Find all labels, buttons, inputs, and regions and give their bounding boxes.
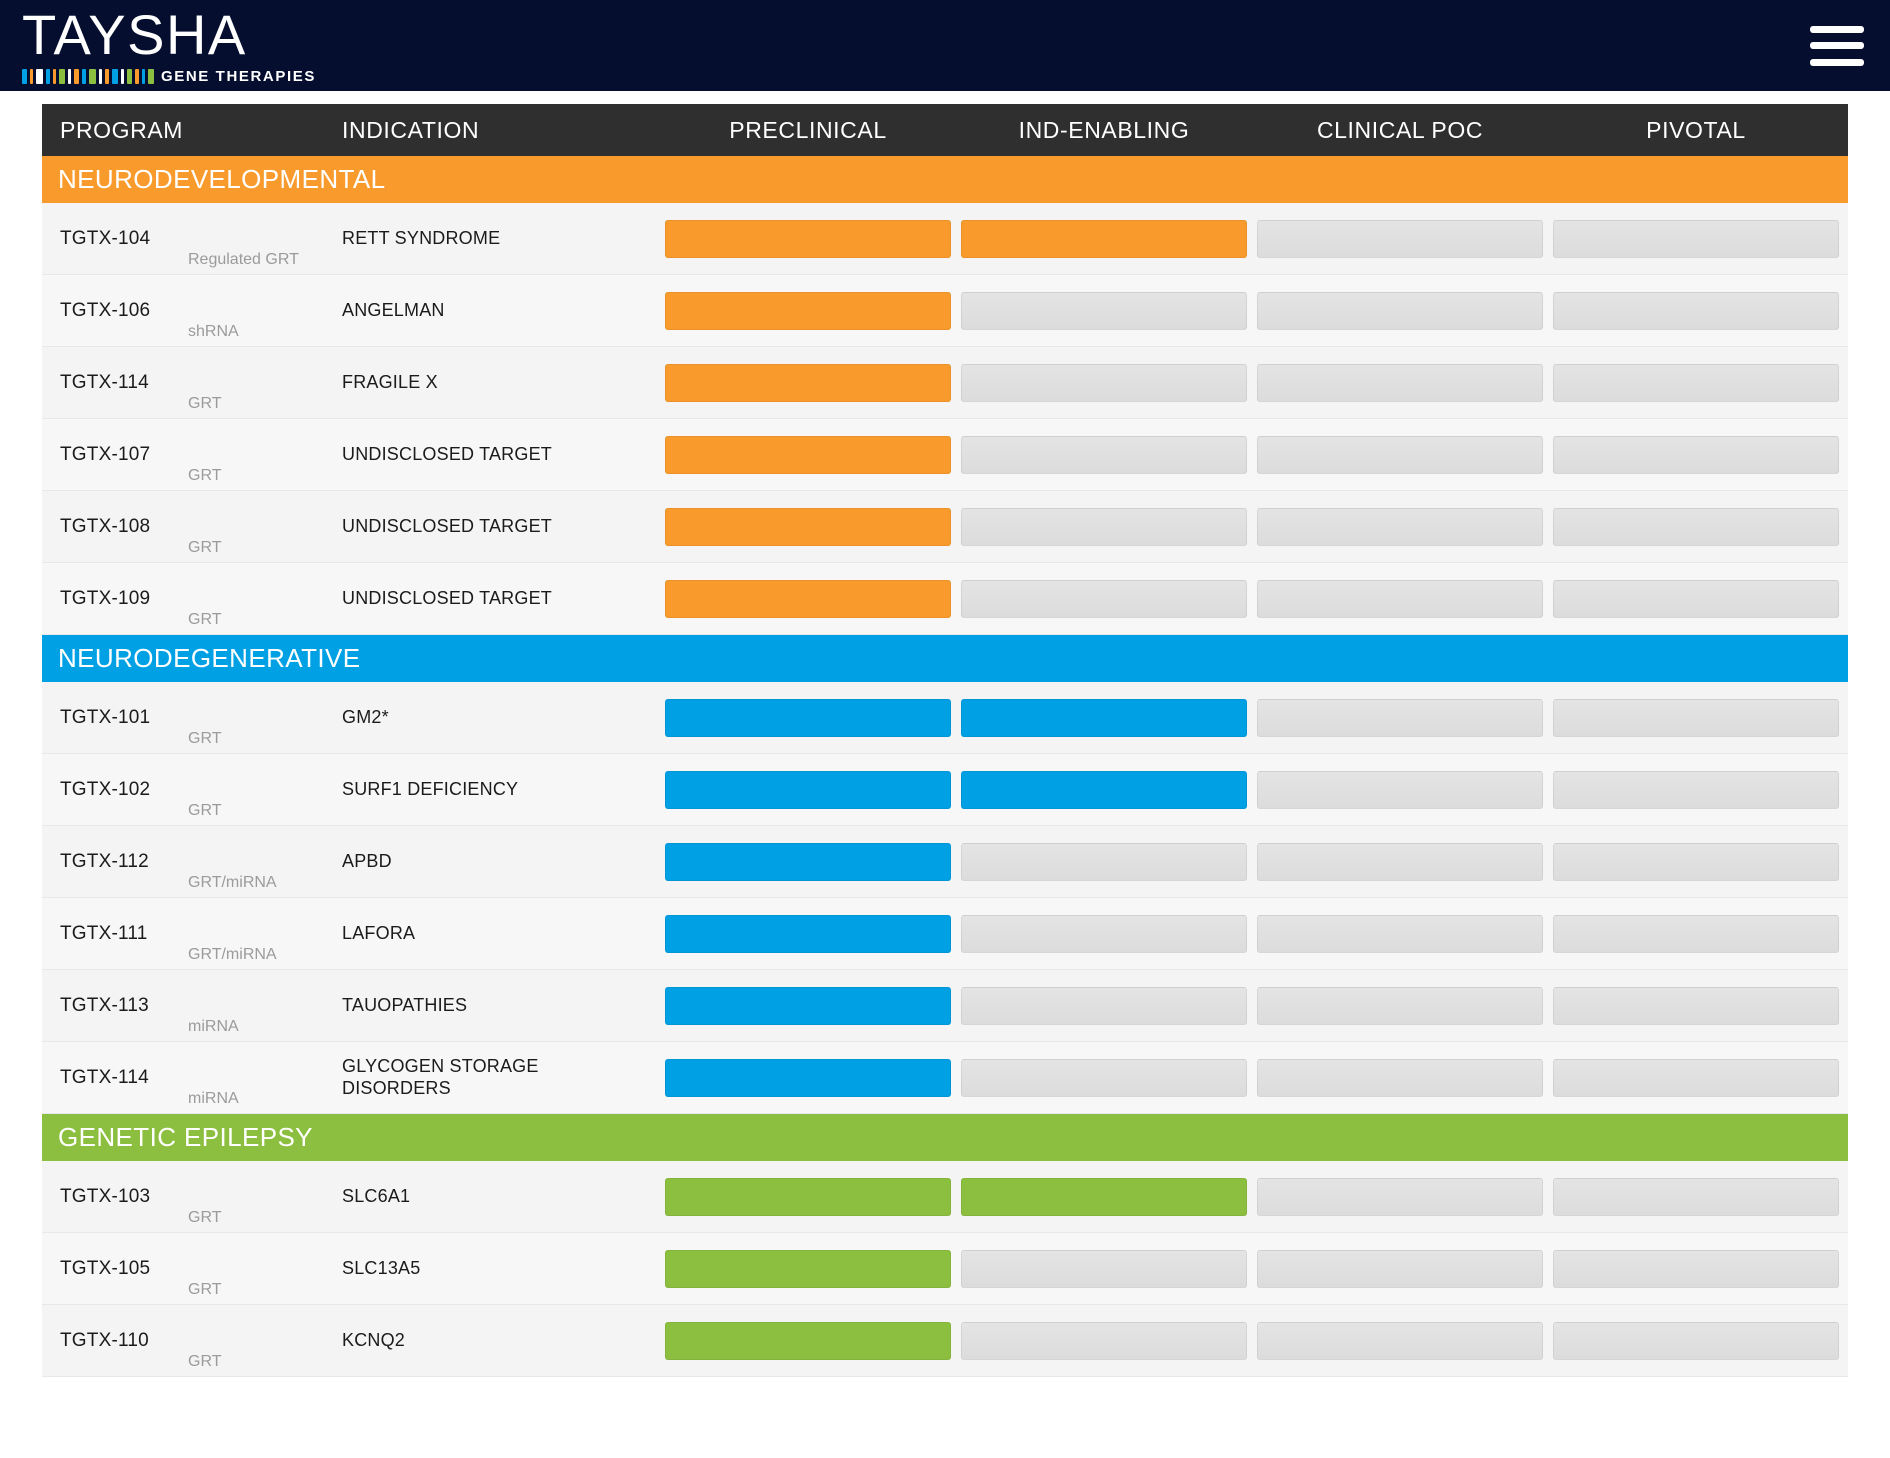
cell-stage-ind-enabling	[956, 1178, 1252, 1216]
cell-program: TGTX-105GRT	[42, 1258, 342, 1280]
cell-stage-clinical-poc	[1252, 1059, 1548, 1097]
program-id: TGTX-113	[60, 995, 188, 1017]
progress-bar-empty	[1553, 771, 1839, 809]
cell-stage-pivotal	[1548, 580, 1844, 618]
cell-stage-preclinical	[660, 436, 956, 474]
cell-stage-preclinical	[660, 580, 956, 618]
cell-stage-preclinical	[660, 1250, 956, 1288]
cell-program: TGTX-111GRT/miRNA	[42, 923, 342, 945]
barcode-bar	[112, 69, 118, 84]
barcode-bar	[30, 69, 33, 84]
table-row[interactable]: TGTX-104Regulated GRTRETT SYNDROME	[42, 203, 1848, 275]
table-row[interactable]: TGTX-107GRTUNDISCLOSED TARGET	[42, 419, 1848, 491]
cell-stage-pivotal	[1548, 843, 1844, 881]
progress-bar-empty	[1553, 987, 1839, 1025]
cell-program: TGTX-106shRNA	[42, 300, 342, 322]
program-modality: GRT	[188, 611, 221, 629]
cell-stage-clinical-poc	[1252, 436, 1548, 474]
cell-program: TGTX-107GRT	[42, 444, 342, 466]
progress-bar-empty	[1553, 1178, 1839, 1216]
barcode-bar	[46, 69, 50, 84]
table-row[interactable]: TGTX-110GRTKCNQ2	[42, 1305, 1848, 1377]
cell-indication: SURF1 DEFICIENCY	[342, 779, 660, 800]
barcode-logo-icon	[22, 69, 154, 84]
cell-stage-ind-enabling	[956, 771, 1252, 809]
program-modality: GRT	[188, 1281, 221, 1299]
progress-bar-filled	[665, 843, 951, 881]
progress-bar-empty	[961, 1059, 1247, 1097]
progress-bar-filled	[665, 220, 951, 258]
cell-stage-pivotal	[1548, 915, 1844, 953]
table-body: NEURODEVELOPMENTALTGTX-104Regulated GRTR…	[42, 156, 1848, 1377]
table-row[interactable]: TGTX-106shRNAANGELMAN	[42, 275, 1848, 347]
table-row[interactable]: TGTX-105GRTSLC13A5	[42, 1233, 1848, 1305]
cell-stage-pivotal	[1548, 508, 1844, 546]
progress-bar-empty	[961, 1250, 1247, 1288]
brand-tagline: GENE THERAPIES	[161, 69, 316, 84]
cell-stage-preclinical	[660, 292, 956, 330]
barcode-bar	[22, 69, 27, 84]
program-id: TGTX-101	[60, 707, 188, 729]
cell-stage-clinical-poc	[1252, 292, 1548, 330]
cell-stage-preclinical	[660, 508, 956, 546]
progress-bar-filled	[665, 1322, 951, 1360]
progress-bar-empty	[1553, 436, 1839, 474]
progress-bar-filled	[665, 580, 951, 618]
cell-indication: SLC6A1	[342, 1186, 660, 1207]
section-header-neurodevelopmental: NEURODEVELOPMENTAL	[42, 156, 1848, 203]
cell-program: TGTX-112GRT/miRNA	[42, 851, 342, 873]
progress-bar-empty	[1257, 699, 1543, 737]
program-modality: miRNA	[188, 1018, 239, 1036]
program-id: TGTX-111	[60, 923, 188, 945]
progress-bar-empty	[961, 292, 1247, 330]
cell-program: TGTX-110GRT	[42, 1330, 342, 1352]
cell-stage-clinical-poc	[1252, 580, 1548, 618]
table-row[interactable]: TGTX-108GRTUNDISCLOSED TARGET	[42, 491, 1848, 563]
cell-stage-ind-enabling	[956, 1322, 1252, 1360]
cell-stage-ind-enabling	[956, 1250, 1252, 1288]
progress-bar-filled	[665, 1178, 951, 1216]
cell-stage-pivotal	[1548, 1322, 1844, 1360]
cell-stage-ind-enabling	[956, 915, 1252, 953]
hamburger-bar-2	[1810, 42, 1864, 49]
cell-stage-clinical-poc	[1252, 220, 1548, 258]
cell-stage-pivotal	[1548, 1059, 1844, 1097]
cell-stage-ind-enabling	[956, 580, 1252, 618]
barcode-bar	[105, 69, 109, 84]
column-header-ind-enabling: IND-ENABLING	[956, 117, 1252, 144]
progress-bar-empty	[1257, 987, 1543, 1025]
program-modality: GRT	[188, 1209, 221, 1227]
barcode-bar	[36, 69, 43, 84]
program-id: TGTX-108	[60, 516, 188, 538]
program-modality: miRNA	[188, 1090, 239, 1108]
cell-stage-clinical-poc	[1252, 915, 1548, 953]
cell-stage-clinical-poc	[1252, 1322, 1548, 1360]
progress-bar-empty	[1553, 915, 1839, 953]
column-header-program: PROGRAM	[42, 117, 342, 144]
progress-bar-empty	[961, 987, 1247, 1025]
program-id: TGTX-106	[60, 300, 188, 322]
progress-bar-empty	[1553, 1322, 1839, 1360]
progress-bar-empty	[961, 364, 1247, 402]
progress-bar-filled	[665, 436, 951, 474]
progress-bar-filled	[665, 508, 951, 546]
program-modality: GRT/miRNA	[188, 946, 277, 964]
cell-stage-clinical-poc	[1252, 1250, 1548, 1288]
cell-stage-pivotal	[1548, 436, 1844, 474]
barcode-bar	[89, 69, 96, 84]
cell-program: TGTX-113miRNA	[42, 995, 342, 1017]
progress-bar-empty	[1257, 220, 1543, 258]
cell-indication: UNDISCLOSED TARGET	[342, 588, 660, 609]
cell-stage-clinical-poc	[1252, 987, 1548, 1025]
barcode-bar	[148, 69, 154, 84]
progress-bar-empty	[961, 436, 1247, 474]
cell-stage-preclinical	[660, 1322, 956, 1360]
cell-program: TGTX-114miRNA	[42, 1067, 342, 1089]
cell-stage-preclinical	[660, 843, 956, 881]
cell-stage-pivotal	[1548, 220, 1844, 258]
barcode-bar	[59, 69, 65, 84]
barcode-bar	[82, 69, 86, 84]
cell-stage-preclinical	[660, 915, 956, 953]
cell-stage-clinical-poc	[1252, 364, 1548, 402]
cell-indication: LAFORA	[342, 923, 660, 944]
hamburger-bar-1	[1810, 26, 1864, 33]
progress-bar-empty	[961, 508, 1247, 546]
column-header-preclinical: PRECLINICAL	[660, 117, 956, 144]
progress-bar-empty	[1553, 220, 1839, 258]
table-row[interactable]: TGTX-101GRTGM2*	[42, 682, 1848, 754]
cell-stage-clinical-poc	[1252, 508, 1548, 546]
progress-bar-filled	[665, 364, 951, 402]
cell-program: TGTX-104Regulated GRT	[42, 228, 342, 250]
section-header-genetic-epilepsy: GENETIC EPILEPSY	[42, 1114, 1848, 1161]
progress-bar-filled	[665, 987, 951, 1025]
program-id: TGTX-114	[60, 372, 188, 394]
cell-indication: UNDISCLOSED TARGET	[342, 516, 660, 537]
cell-stage-pivotal	[1548, 699, 1844, 737]
cell-stage-clinical-poc	[1252, 771, 1548, 809]
cell-indication: GLYCOGEN STORAGE DISORDERS	[342, 1056, 660, 1098]
cell-indication: KCNQ2	[342, 1330, 660, 1351]
program-id: TGTX-114	[60, 1067, 188, 1089]
cell-stage-ind-enabling	[956, 436, 1252, 474]
progress-bar-filled	[665, 1059, 951, 1097]
progress-bar-empty	[1257, 508, 1543, 546]
progress-bar-filled	[665, 1250, 951, 1288]
program-id: TGTX-109	[60, 588, 188, 610]
progress-bar-empty	[961, 843, 1247, 881]
progress-bar-empty	[1553, 699, 1839, 737]
cell-stage-clinical-poc	[1252, 843, 1548, 881]
cell-program: TGTX-103GRT	[42, 1186, 342, 1208]
cell-stage-preclinical	[660, 364, 956, 402]
cell-stage-pivotal	[1548, 364, 1844, 402]
barcode-bar	[127, 69, 132, 84]
pipeline-table: PROGRAM INDICATION PRECLINICAL IND-ENABL…	[42, 104, 1848, 1377]
program-modality: GRT	[188, 539, 221, 557]
cell-indication: SLC13A5	[342, 1258, 660, 1279]
barcode-bar	[142, 69, 145, 84]
progress-bar-filled	[665, 699, 951, 737]
program-modality: GRT/miRNA	[188, 874, 277, 892]
progress-bar-empty	[1553, 843, 1839, 881]
progress-bar-empty	[1257, 1059, 1543, 1097]
cell-stage-ind-enabling	[956, 1059, 1252, 1097]
progress-bar-filled	[961, 771, 1247, 809]
program-id: TGTX-110	[60, 1330, 188, 1352]
cell-stage-pivotal	[1548, 292, 1844, 330]
table-row[interactable]: TGTX-114miRNAGLYCOGEN STORAGE DISORDERS	[42, 1042, 1848, 1114]
program-modality: GRT	[188, 467, 221, 485]
progress-bar-filled	[961, 1178, 1247, 1216]
progress-bar-empty	[1257, 1250, 1543, 1288]
column-header-pivotal: PIVOTAL	[1548, 117, 1844, 144]
cell-indication: ANGELMAN	[342, 300, 660, 321]
cell-indication: APBD	[342, 851, 660, 872]
progress-bar-filled	[665, 771, 951, 809]
cell-stage-pivotal	[1548, 771, 1844, 809]
cell-stage-ind-enabling	[956, 699, 1252, 737]
cell-indication: GM2*	[342, 707, 660, 728]
table-row[interactable]: TGTX-109GRTUNDISCLOSED TARGET	[42, 563, 1848, 635]
hamburger-bar-3	[1810, 59, 1864, 66]
progress-bar-empty	[1257, 436, 1543, 474]
barcode-bar	[53, 69, 56, 84]
column-header-indication: INDICATION	[342, 117, 660, 144]
brand-logo[interactable]: TAYSHA GENE THERAPIES	[22, 7, 316, 84]
cell-indication: FRAGILE X	[342, 372, 660, 393]
section-header-neurodegenerative: NEURODEGENERATIVE	[42, 635, 1848, 682]
cell-program: TGTX-108GRT	[42, 516, 342, 538]
program-id: TGTX-104	[60, 228, 188, 250]
cell-stage-ind-enabling	[956, 220, 1252, 258]
progress-bar-filled	[961, 220, 1247, 258]
hamburger-menu-icon[interactable]	[1810, 26, 1864, 66]
cell-stage-ind-enabling	[956, 364, 1252, 402]
program-modality: GRT	[188, 395, 221, 413]
progress-bar-empty	[1257, 1178, 1543, 1216]
program-modality: GRT	[188, 1353, 221, 1371]
cell-stage-clinical-poc	[1252, 1178, 1548, 1216]
program-modality: shRNA	[188, 323, 239, 341]
column-header-clinical-poc: CLINICAL POC	[1252, 117, 1548, 144]
progress-bar-empty	[1553, 1250, 1839, 1288]
table-row[interactable]: TGTX-102GRTSURF1 DEFICIENCY	[42, 754, 1848, 826]
program-modality: GRT	[188, 802, 221, 820]
progress-bar-empty	[1257, 915, 1543, 953]
program-id: TGTX-105	[60, 1258, 188, 1280]
progress-bar-empty	[1257, 364, 1543, 402]
progress-bar-empty	[961, 1322, 1247, 1360]
cell-stage-pivotal	[1548, 1178, 1844, 1216]
barcode-bar	[68, 69, 71, 84]
barcode-bar	[99, 69, 102, 84]
progress-bar-empty	[1257, 771, 1543, 809]
program-modality: Regulated GRT	[188, 251, 299, 269]
brand-name: TAYSHA	[22, 7, 316, 63]
progress-bar-empty	[961, 580, 1247, 618]
program-id: TGTX-107	[60, 444, 188, 466]
table-row[interactable]: TGTX-112GRT/miRNAAPBD	[42, 826, 1848, 898]
cell-program: TGTX-109GRT	[42, 588, 342, 610]
table-row[interactable]: TGTX-103GRTSLC6A1	[42, 1161, 1848, 1233]
cell-stage-preclinical	[660, 220, 956, 258]
barcode-bar	[121, 69, 124, 84]
cell-stage-ind-enabling	[956, 843, 1252, 881]
program-id: TGTX-103	[60, 1186, 188, 1208]
progress-bar-empty	[1257, 292, 1543, 330]
cell-indication: UNDISCLOSED TARGET	[342, 444, 660, 465]
cell-stage-preclinical	[660, 1178, 956, 1216]
program-modality: GRT	[188, 730, 221, 748]
table-row[interactable]: TGTX-111GRT/miRNALAFORA	[42, 898, 1848, 970]
barcode-bar	[74, 69, 79, 84]
progress-bar-empty	[1553, 364, 1839, 402]
cell-stage-preclinical	[660, 771, 956, 809]
cell-indication: TAUOPATHIES	[342, 995, 660, 1016]
progress-bar-empty	[1257, 1322, 1543, 1360]
table-row[interactable]: TGTX-113miRNATAUOPATHIES	[42, 970, 1848, 1042]
barcode-bar	[135, 69, 139, 84]
progress-bar-filled	[665, 292, 951, 330]
progress-bar-empty	[1553, 508, 1839, 546]
cell-program: TGTX-101GRT	[42, 707, 342, 729]
progress-bar-empty	[961, 915, 1247, 953]
cell-stage-preclinical	[660, 1059, 956, 1097]
progress-bar-empty	[1553, 1059, 1839, 1097]
cell-stage-ind-enabling	[956, 987, 1252, 1025]
cell-stage-pivotal	[1548, 1250, 1844, 1288]
cell-indication: RETT SYNDROME	[342, 228, 660, 249]
cell-stage-preclinical	[660, 987, 956, 1025]
cell-stage-preclinical	[660, 699, 956, 737]
cell-stage-clinical-poc	[1252, 699, 1548, 737]
progress-bar-empty	[1553, 580, 1839, 618]
progress-bar-empty	[1257, 580, 1543, 618]
cell-stage-ind-enabling	[956, 508, 1252, 546]
program-id: TGTX-102	[60, 779, 188, 801]
progress-bar-empty	[1553, 292, 1839, 330]
progress-bar-empty	[1257, 843, 1543, 881]
program-id: TGTX-112	[60, 851, 188, 873]
cell-program: TGTX-114GRT	[42, 372, 342, 394]
table-header-row: PROGRAM INDICATION PRECLINICAL IND-ENABL…	[42, 104, 1848, 156]
table-row[interactable]: TGTX-114GRTFRAGILE X	[42, 347, 1848, 419]
cell-stage-pivotal	[1548, 987, 1844, 1025]
cell-stage-ind-enabling	[956, 292, 1252, 330]
progress-bar-filled	[961, 699, 1247, 737]
top-navigation-bar: TAYSHA GENE THERAPIES	[0, 0, 1890, 91]
progress-bar-filled	[665, 915, 951, 953]
cell-program: TGTX-102GRT	[42, 779, 342, 801]
